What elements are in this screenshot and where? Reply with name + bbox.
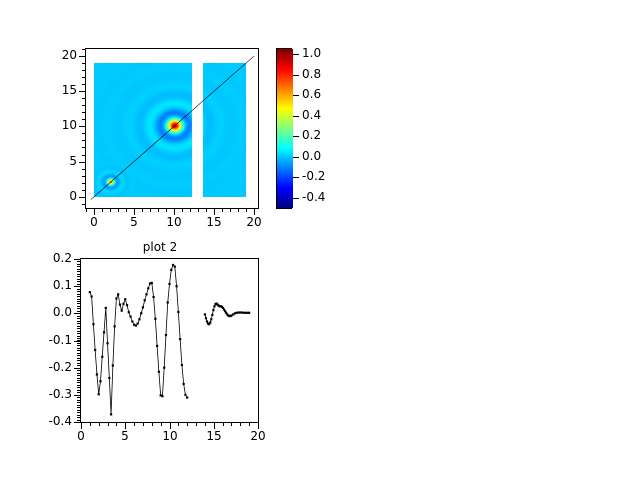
line-series-marker <box>154 318 156 320</box>
panel-topleft-colorbar <box>276 48 292 209</box>
axis-tick <box>158 208 159 212</box>
line-series-marker <box>124 298 126 300</box>
panel-bottomleft-title: plot 2 <box>60 240 260 254</box>
axis-tick <box>77 296 81 297</box>
line-series-marker <box>248 312 250 314</box>
line-series-marker <box>101 356 103 358</box>
axis-tick <box>231 422 232 426</box>
axis-tick <box>196 422 197 426</box>
axis-tick <box>230 208 231 212</box>
axis-tick <box>77 402 81 403</box>
axis-tick <box>77 397 81 398</box>
axis-tick <box>174 208 175 215</box>
line-series-path <box>90 265 187 414</box>
colorbar-tick <box>293 136 299 137</box>
axis-tick <box>77 306 81 307</box>
axis-tick-label: 5 <box>37 154 77 168</box>
line-series-marker <box>167 301 169 303</box>
axis-tick <box>77 378 81 379</box>
axis-tick <box>108 422 109 426</box>
axis-tick <box>190 208 191 212</box>
axis-tick <box>77 363 81 364</box>
axis-tick <box>82 169 86 170</box>
line-series-marker <box>177 311 179 313</box>
axis-tick <box>77 266 81 267</box>
axis-tick <box>77 303 81 304</box>
axis-tick <box>205 422 206 426</box>
axis-tick-label: 15 <box>37 83 77 97</box>
line-series-marker <box>131 320 133 322</box>
axis-tick <box>198 208 199 212</box>
axis-tick <box>161 422 162 426</box>
line-series-marker <box>121 310 123 312</box>
axis-tick <box>82 176 86 177</box>
axis-tick <box>77 405 81 406</box>
axis-tick <box>82 140 86 141</box>
line-series-marker <box>161 395 163 397</box>
axis-tick <box>77 316 81 317</box>
axis-tick <box>77 333 81 334</box>
axis-tick <box>77 353 81 354</box>
axis-tick <box>77 358 81 359</box>
axis-tick <box>77 343 81 344</box>
line-series-marker <box>91 295 93 297</box>
axis-tick <box>77 323 81 324</box>
axis-tick <box>77 392 81 393</box>
colorbar-tick-label: 0.6 <box>302 87 321 101</box>
axis-tick <box>110 208 111 212</box>
axis-tick <box>126 208 127 212</box>
axis-tick-label: 0.1 <box>32 278 72 292</box>
axis-tick <box>214 422 215 429</box>
line-series-marker <box>168 283 170 285</box>
axis-tick <box>249 422 250 426</box>
axis-tick <box>178 422 179 426</box>
line-series-marker <box>209 321 211 323</box>
axis-tick <box>94 208 95 215</box>
line-series-marker <box>175 285 177 287</box>
axis-tick <box>240 422 241 426</box>
axis-tick-label: 5 <box>112 215 156 229</box>
axis-tick <box>258 422 259 429</box>
axis-tick <box>82 70 86 71</box>
axis-tick <box>82 190 86 191</box>
line-series-marker <box>119 304 121 306</box>
colorbar-tick <box>293 177 299 178</box>
line-series-marker <box>179 338 181 340</box>
axis-tick <box>246 208 247 212</box>
axis-tick <box>77 274 81 275</box>
axis-tick-label: 10 <box>148 429 192 443</box>
axis-tick <box>77 410 81 411</box>
line-series-marker <box>151 282 153 284</box>
axis-tick <box>99 422 100 426</box>
panel-bottomright: plot 3 050100020406080100 0.80.60.40.20.… <box>320 240 640 480</box>
line-series-marker <box>206 320 208 322</box>
axis-tick <box>134 422 135 426</box>
line-series-marker <box>212 309 214 311</box>
axis-tick <box>143 422 144 426</box>
axis-tick <box>77 338 81 339</box>
colorbar-tick-label: 0.8 <box>302 67 321 81</box>
axis-tick <box>77 415 81 416</box>
line-series-marker <box>106 342 108 344</box>
line-series-marker <box>105 307 107 309</box>
line-series-marker <box>96 373 98 375</box>
axis-tick <box>74 368 81 369</box>
line-series-marker <box>156 345 158 347</box>
line-series-marker <box>170 269 172 271</box>
axis-tick <box>82 84 86 85</box>
axis-tick <box>152 422 153 426</box>
line-series-marker <box>135 324 137 326</box>
colorbar-tick <box>293 95 299 96</box>
axis-tick <box>206 208 207 212</box>
line-series-marker <box>163 367 165 369</box>
axis-tick <box>77 299 81 300</box>
line-series-marker <box>211 314 213 316</box>
colorbar-tick-label: 0.2 <box>302 128 321 142</box>
axis-tick <box>79 162 86 163</box>
line-series-marker <box>117 293 119 295</box>
axis-tick <box>116 422 117 426</box>
axis-tick <box>77 350 81 351</box>
line-series-marker <box>103 331 105 333</box>
axis-tick-label: -0.4 <box>32 414 72 428</box>
axis-tick <box>187 422 188 426</box>
axis-tick <box>77 271 81 272</box>
colorbar-tick <box>293 157 299 158</box>
panel-bottomleft-dataregion <box>81 259 258 422</box>
axis-tick-label: 5 <box>103 429 147 443</box>
colorbar-tick-label: 1.0 <box>302 46 321 60</box>
line-series-marker <box>147 287 149 289</box>
axis-tick <box>77 360 81 361</box>
line-series-marker <box>140 312 142 314</box>
axis-tick-label: 20 <box>37 48 77 62</box>
axis-tick <box>118 208 119 212</box>
axis-tick <box>77 326 81 327</box>
axis-tick-label: 15 <box>192 429 236 443</box>
axis-tick <box>77 387 81 388</box>
line-series-marker <box>183 383 185 385</box>
colorbar-tick <box>293 54 299 55</box>
axis-tick-label: -0.2 <box>32 360 72 374</box>
axis-tick <box>82 63 86 64</box>
axis-tick <box>77 279 81 280</box>
axis-tick <box>77 417 81 418</box>
axis-tick <box>74 259 81 260</box>
axis-tick-label: 10 <box>37 118 77 132</box>
overlay-diagonal-line <box>91 56 254 200</box>
axis-tick <box>77 355 81 356</box>
axis-tick <box>102 208 103 212</box>
line-series-marker <box>92 323 94 325</box>
axis-tick <box>254 208 255 215</box>
axis-tick <box>74 422 81 423</box>
axis-tick <box>77 412 81 413</box>
line-series-marker <box>186 396 188 398</box>
axis-tick-label: 0.0 <box>32 305 72 319</box>
colorbar-tick-label: 0.4 <box>302 108 321 122</box>
line-series-marker <box>184 394 186 396</box>
line-series-marker <box>158 371 160 373</box>
axis-tick <box>77 348 81 349</box>
axis-tick <box>82 147 86 148</box>
axis-tick <box>77 289 81 290</box>
axis-tick <box>81 422 82 429</box>
panel-topleft-colorbar-gradient <box>277 49 293 208</box>
line-series-marker <box>126 304 128 306</box>
axis-tick <box>142 208 143 212</box>
panel-bottomleft: plot 2 051015200.20.10.0-0.1-0.2-0.3-0.4 <box>0 240 320 480</box>
axis-tick <box>77 269 81 270</box>
axis-tick-label: 10 <box>152 215 196 229</box>
axis-tick <box>223 422 224 426</box>
axis-tick <box>77 328 81 329</box>
axis-tick-label: -0.1 <box>32 333 72 347</box>
line-series-marker <box>128 311 130 313</box>
axis-tick <box>77 400 81 401</box>
line-series-marker <box>138 318 140 320</box>
axis-tick <box>82 112 86 113</box>
axis-tick-label: 20 <box>232 215 276 229</box>
axis-tick <box>77 311 81 312</box>
axis-tick <box>77 390 81 391</box>
panel-topright: plot 1 050100020406080100 1.00.80.60.40.… <box>320 0 640 240</box>
colorbar-tick <box>293 116 299 117</box>
axis-tick <box>77 373 81 374</box>
axis-tick <box>77 284 81 285</box>
axis-tick <box>82 155 86 156</box>
panel-topleft: 0510152005101520 1.00.80.60.40.20.0-0.2-… <box>0 0 320 240</box>
axis-tick <box>77 294 81 295</box>
axis-tick <box>79 56 86 57</box>
axis-tick-label: 0.2 <box>32 251 72 265</box>
axis-tick <box>222 208 223 212</box>
line-series-marker <box>152 296 154 298</box>
line-series-marker <box>142 306 144 308</box>
axis-tick <box>77 385 81 386</box>
axis-tick <box>79 91 86 92</box>
axis-tick <box>214 208 215 215</box>
colorbar-tick <box>293 198 299 199</box>
line-series-marker <box>210 318 212 320</box>
axis-tick <box>77 370 81 371</box>
axis-tick <box>77 331 81 332</box>
panel-topleft-dataregion <box>86 49 258 208</box>
axis-tick <box>82 183 86 184</box>
axis-tick <box>82 77 86 78</box>
line-series-marker <box>145 293 147 295</box>
line-series-marker <box>94 349 96 351</box>
axis-tick <box>166 208 167 212</box>
axis-tick <box>82 49 86 50</box>
axis-tick <box>86 208 87 212</box>
axis-tick <box>77 380 81 381</box>
axis-tick <box>77 261 81 262</box>
axis-tick-label: 20 <box>236 429 280 443</box>
axis-tick <box>90 422 91 426</box>
axis-tick <box>170 422 171 429</box>
axis-tick <box>82 204 86 205</box>
axis-tick <box>77 321 81 322</box>
axis-tick <box>77 407 81 408</box>
axis-tick-label: 15 <box>192 215 236 229</box>
axis-tick <box>77 281 81 282</box>
line-series-marker <box>213 305 215 307</box>
line-series-marker <box>174 266 176 268</box>
axis-tick <box>79 126 86 127</box>
axis-tick-label: 0 <box>37 189 77 203</box>
axis-tick <box>77 318 81 319</box>
axis-tick-label: 0 <box>72 215 116 229</box>
axis-tick-label: 0 <box>59 429 103 443</box>
axis-tick <box>74 395 81 396</box>
line-series-marker <box>144 299 146 301</box>
axis-tick <box>77 336 81 337</box>
line-series-marker <box>115 297 117 299</box>
figure-canvas: 0510152005101520 1.00.80.60.40.20.0-0.2-… <box>0 0 640 480</box>
axis-tick <box>182 208 183 212</box>
axis-tick <box>77 420 81 421</box>
axis-tick <box>134 208 135 215</box>
axis-tick <box>82 119 86 120</box>
line-series-marker <box>89 291 91 293</box>
axis-tick <box>77 382 81 383</box>
axis-tick <box>125 422 126 429</box>
axis-tick <box>74 286 81 287</box>
axis-tick <box>74 341 81 342</box>
axis-tick <box>82 105 86 106</box>
axis-tick <box>77 291 81 292</box>
line-series-marker <box>108 377 110 379</box>
axis-tick <box>77 301 81 302</box>
line-series-marker <box>137 323 139 325</box>
axis-tick <box>77 308 81 309</box>
axis-tick <box>77 276 81 277</box>
axis-tick <box>150 208 151 212</box>
line-series-marker <box>99 380 101 382</box>
axis-tick <box>74 313 81 314</box>
line-series-marker <box>112 364 114 366</box>
line-series-marker <box>114 325 116 327</box>
line-series-marker <box>129 315 131 317</box>
line-series-marker <box>204 313 206 315</box>
line-series-marker <box>181 364 183 366</box>
axis-tick <box>77 345 81 346</box>
panel-topleft-overlay-line <box>86 49 258 208</box>
line-series-marker <box>165 334 167 336</box>
axis-tick <box>82 133 86 134</box>
axis-tick <box>79 197 86 198</box>
axis-tick <box>77 365 81 366</box>
line-series-marker <box>122 303 124 305</box>
axis-tick <box>82 98 86 99</box>
panel-bottomleft-lineplot <box>81 259 258 422</box>
axis-tick-label: -0.3 <box>32 387 72 401</box>
axis-tick <box>238 208 239 212</box>
line-series-marker <box>110 413 112 415</box>
line-series-marker <box>98 393 100 395</box>
axis-tick <box>77 264 81 265</box>
axis-tick <box>77 375 81 376</box>
colorbar-tick <box>293 75 299 76</box>
colorbar-tick-label: 0.0 <box>302 149 321 163</box>
line-series-marker <box>205 317 207 319</box>
